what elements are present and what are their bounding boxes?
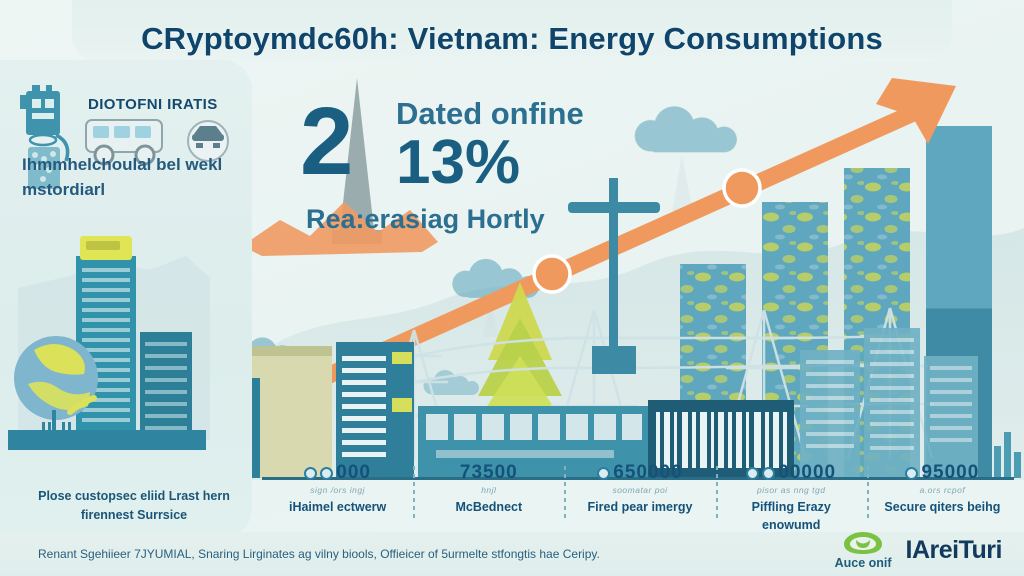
brand-mark-name: Auce onif bbox=[835, 556, 892, 570]
trend-marker-2 bbox=[534, 256, 570, 292]
stat-value-row: 000 bbox=[268, 462, 407, 484]
stat-item: 95000 a.ors rcpof Secure qiters beihg bbox=[867, 462, 1018, 516]
brand-lockup: Auce onif IAreiTuri bbox=[835, 531, 1002, 570]
coin-icon bbox=[762, 467, 775, 480]
hero-stat-block: 2 Dated onfine 13% Rea:erasiag Hortly bbox=[300, 88, 600, 248]
stat-label: McBednect bbox=[419, 498, 558, 516]
brand-mark: Auce onif bbox=[835, 531, 892, 570]
stat-value-row: 73500 bbox=[419, 462, 558, 484]
infographic-root: CRyptoymdc60h: Vietnam: Energy Consumpti… bbox=[0, 0, 1024, 576]
stat-micro: soomatar poi bbox=[570, 484, 709, 496]
stat-micro: a.ors rcpof bbox=[873, 484, 1012, 496]
stat-micro: sign /ors ingj bbox=[268, 484, 407, 496]
stat-label: Secure qiters beihg bbox=[873, 498, 1012, 516]
stat-value: 73500 bbox=[460, 462, 518, 484]
stat-value-row: 650000 bbox=[570, 462, 709, 484]
stat-strip: 000 sign /ors ingj iHaimel ectwerw 73500… bbox=[262, 462, 1018, 538]
coin-icon bbox=[320, 467, 333, 480]
footer-disclaimer: Renant Sgehiieer 7JYUMIAL, Snaring Lirgi… bbox=[38, 546, 698, 563]
stat-value-row: 00000 bbox=[722, 462, 861, 484]
trend-marker-3 bbox=[724, 170, 760, 206]
leaf-logo-icon bbox=[843, 531, 883, 555]
coin-icon bbox=[746, 467, 759, 480]
coin-icon bbox=[905, 467, 918, 480]
left-panel-kicker: DIOTOFNI IRATIS bbox=[88, 96, 218, 113]
stat-item: 000 sign /ors ingj iHaimel ectwerw bbox=[262, 462, 413, 516]
coin-icon bbox=[597, 467, 610, 480]
stat-item: 650000 soomatar poi Fired pear imergy bbox=[564, 462, 715, 516]
globe-icon bbox=[14, 336, 98, 420]
hero-caption-bottom: Rea:erasiag Hortly bbox=[306, 204, 545, 235]
coin-icon bbox=[304, 467, 317, 480]
left-panel-subtitle: Ihmmhelchoulal bel wekl mstordiarl bbox=[22, 152, 248, 202]
stat-value-row: 95000 bbox=[873, 462, 1012, 484]
stat-item: 73500 hnjl McBednect bbox=[413, 462, 564, 516]
stat-micro: hnjl bbox=[419, 484, 558, 496]
stat-item: 00000 pisor as nng tgd Piffling Erazy en… bbox=[716, 462, 867, 534]
hero-percent: 13% bbox=[396, 130, 520, 196]
stat-value: 000 bbox=[336, 462, 371, 484]
stat-label: Fired pear imergy bbox=[570, 498, 709, 516]
stat-label: Piffling Erazy enowumd bbox=[722, 498, 861, 534]
skyscraper-and-globe-illustration bbox=[0, 226, 252, 470]
stat-value: 00000 bbox=[778, 462, 836, 484]
stat-micro: pisor as nng tgd bbox=[722, 484, 861, 496]
brand-wordmark: IAreiTuri bbox=[906, 536, 1002, 565]
stat-value: 95000 bbox=[921, 462, 979, 484]
left-panel-footnote: Plose custopsec eliid Lrast hern firenne… bbox=[16, 487, 252, 525]
stat-value: 650000 bbox=[613, 462, 682, 484]
hero-big-number: 2 bbox=[300, 94, 353, 190]
stat-label: iHaimel ectwerw bbox=[268, 498, 407, 516]
hero-caption-top: Dated onfine bbox=[396, 96, 584, 132]
